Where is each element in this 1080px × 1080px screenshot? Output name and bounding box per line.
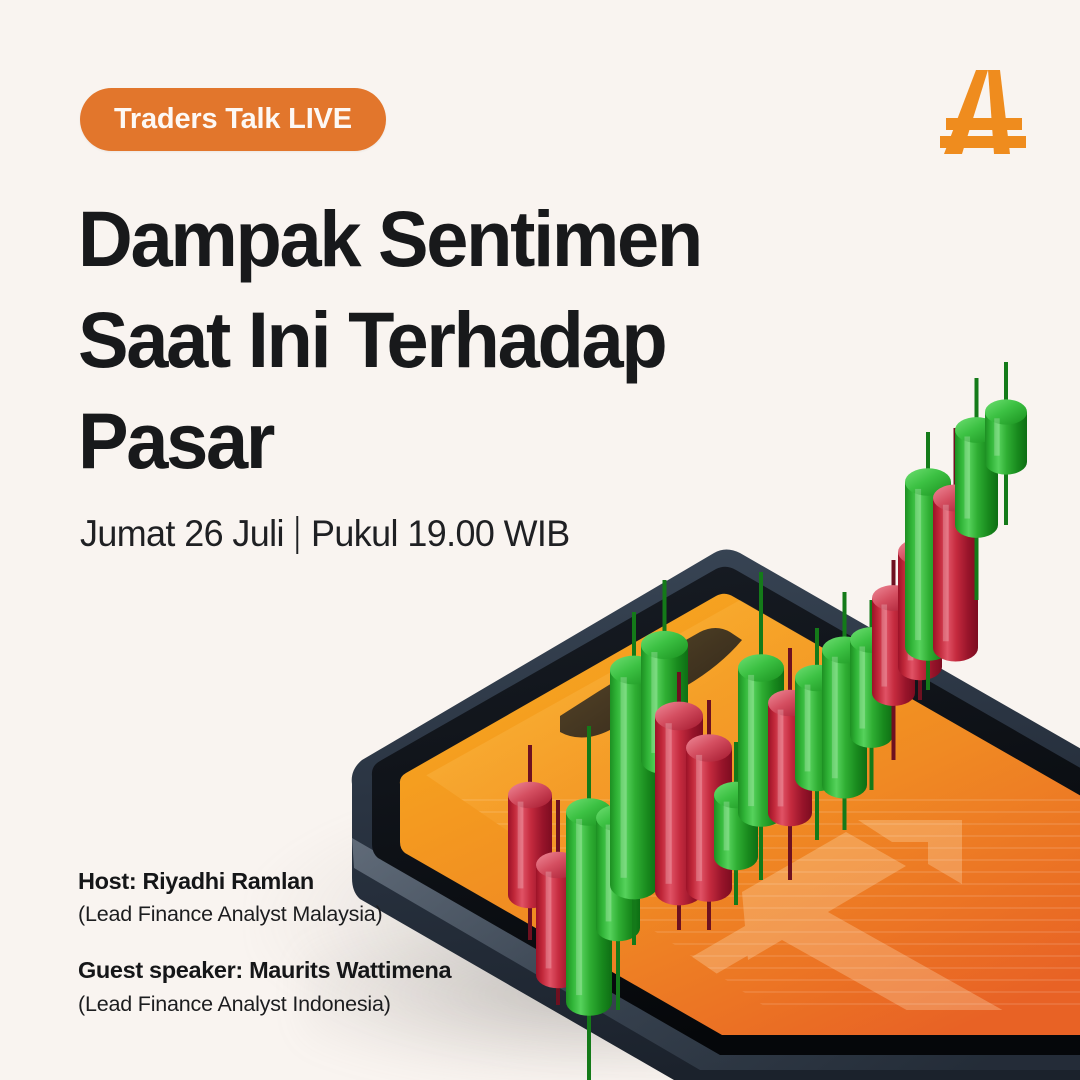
headline-line-3: Pasar <box>78 390 808 491</box>
candlestick-16-bearish <box>898 505 942 700</box>
host-name: Host: Riyadhi Ramlan <box>78 866 451 897</box>
candlestick-10-bullish <box>738 572 784 880</box>
event-datetime: Jumat 26 Juli Pukul 19.00 WIB <box>80 513 570 555</box>
guest-name: Guest speaker: Maurits Wattimena <box>78 955 451 986</box>
candlestick-2-bearish <box>536 800 580 1005</box>
candlestick-9-bullish <box>714 742 758 905</box>
event-date: Jumat 26 Juli <box>80 513 284 555</box>
page-title: Dampak Sentimen Saat Ini Terhadap Pasar <box>78 188 808 491</box>
smartphone-device <box>352 550 1080 1080</box>
candlestick-17-bullish <box>905 432 951 690</box>
host-role: (Lead Finance Analyst Malaysia) <box>78 900 451 929</box>
guest-credit: Guest speaker: Maurits Wattimena (Lead F… <box>78 955 451 1018</box>
host-credit: Host: Riyadhi Ramlan (Lead Finance Analy… <box>78 866 451 929</box>
candlestick-5-bullish <box>610 612 658 945</box>
live-badge: Traders Talk LIVE <box>80 88 386 151</box>
candlestick-3-bullish <box>566 726 612 1080</box>
candlestick-7-bearish <box>655 672 703 930</box>
screen-scanlines <box>400 800 1080 1016</box>
candlestick-4-bullish <box>596 735 640 1010</box>
candlestick-19-bullish <box>955 378 998 600</box>
candlestick-11-bearish <box>768 648 812 880</box>
candlestick-13-bullish <box>822 592 867 830</box>
candlestick-6-bullish <box>641 580 688 880</box>
event-time: Pukul 19.00 WIB <box>311 513 570 555</box>
candlestick-18-bearish <box>933 428 978 662</box>
poster-canvas: Traders Talk LIVE Dampak Sentimen Saat I… <box>0 0 1080 1080</box>
guest-role: (Lead Finance Analyst Indonesia) <box>78 990 451 1019</box>
candlestick-15-bearish <box>872 560 915 760</box>
brand-a-logo-icon <box>932 62 1032 162</box>
candlestick-8-bearish <box>686 700 732 930</box>
candlestick-1-bearish <box>508 745 552 940</box>
candlestick-20-bullish <box>985 362 1027 525</box>
headline-line-1: Dampak Sentimen <box>78 188 808 289</box>
speaker-credits: Host: Riyadhi Ramlan (Lead Finance Analy… <box>78 866 451 1019</box>
screen-arrow-watermark <box>690 820 1006 1040</box>
datetime-divider <box>297 516 299 554</box>
headline-line-2: Saat Ini Terhadap <box>78 289 808 390</box>
candlestick-14-bullish <box>850 600 893 790</box>
candlestick-12-bullish <box>795 628 839 840</box>
